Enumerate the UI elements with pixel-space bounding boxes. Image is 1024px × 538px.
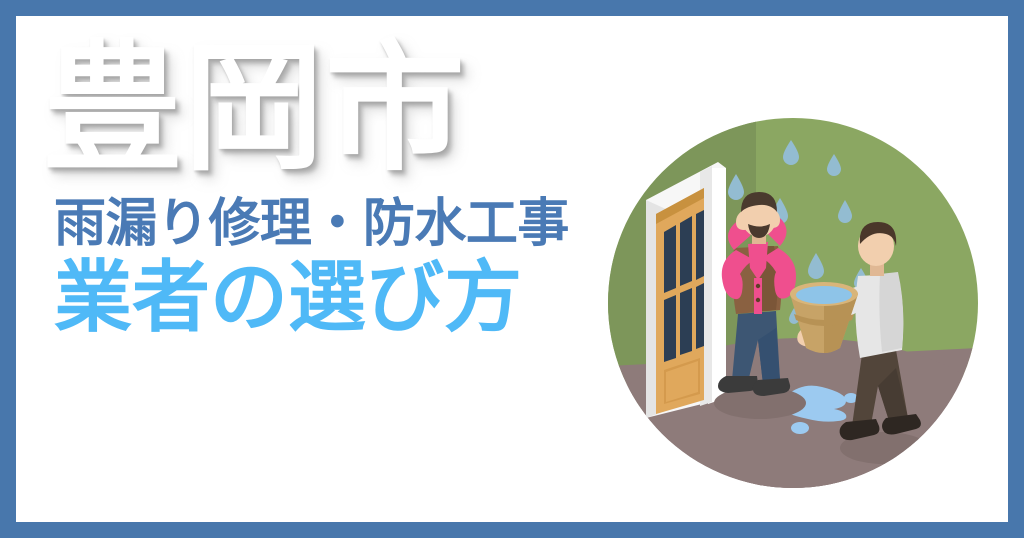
rain-leak-scene-svg: [608, 118, 978, 488]
bucket-water: [796, 286, 852, 304]
banner: 豊岡市 雨漏り修理・防水工事 業者の選び方: [0, 0, 1024, 538]
headline: 業者の選び方: [54, 257, 622, 339]
text-block: 豊岡市 雨漏り修理・防水工事 業者の選び方: [42, 38, 622, 339]
inner-card: 豊岡市 雨漏り修理・防水工事 業者の選び方: [16, 16, 1008, 522]
city-title: 豊岡市: [42, 38, 622, 181]
man1-shoe-left: [718, 376, 758, 393]
rain-leak-illustration: [608, 118, 978, 488]
subtitle: 雨漏り修理・防水工事: [54, 197, 622, 252]
